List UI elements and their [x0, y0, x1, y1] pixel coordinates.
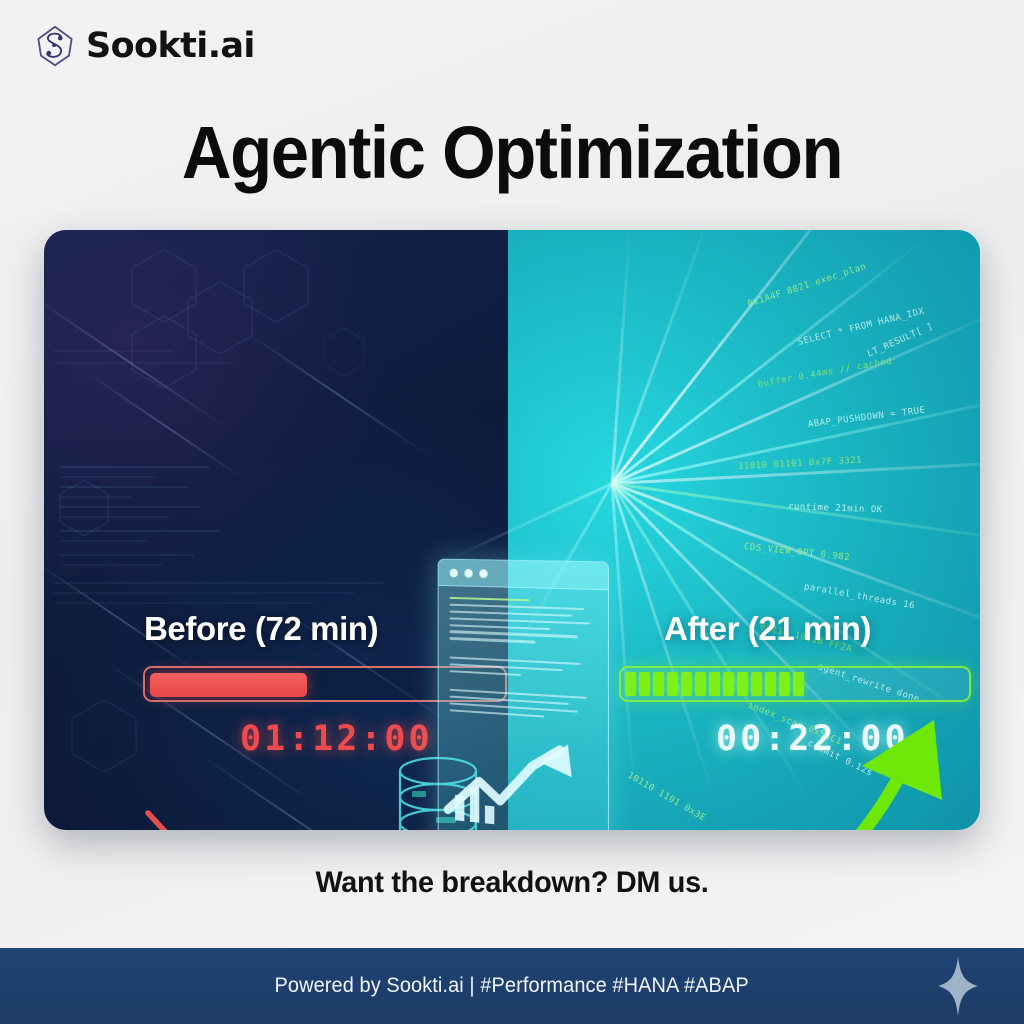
progress-segment: [667, 672, 678, 696]
progress-segment: [625, 672, 636, 696]
window-dot: [479, 569, 487, 578]
footer-text: Powered by Sookti.ai | #Performance #HAN…: [275, 974, 749, 998]
before-label: Before (72 min): [144, 610, 378, 648]
after-label: After (21 min): [664, 610, 871, 648]
page-title: Agentic Optimization: [36, 110, 988, 195]
brand-logo[interactable]: Sookti.ai: [34, 24, 255, 68]
code-window-icon: [438, 559, 609, 830]
rising-arrow-icon: [604, 710, 964, 830]
progress-segment: [681, 672, 692, 696]
footer-bar: Powered by Sookti.ai | #Performance #HAN…: [0, 948, 1024, 1024]
code-window-text: [450, 597, 596, 726]
progress-segment: [709, 672, 720, 696]
after-progress-segments: [625, 672, 804, 696]
window-dot: [464, 569, 472, 578]
sparkle-icon: [936, 956, 980, 1016]
progress-segment: [737, 672, 748, 696]
progress-segment: [695, 672, 706, 696]
progress-segment: [723, 672, 734, 696]
poster-canvas: Sookti.ai Agentic Optimization: [0, 0, 1024, 1024]
progress-segment: [765, 672, 776, 696]
growth-chart-icon: [442, 733, 609, 830]
cta-text[interactable]: Want the breakdown? DM us.: [20, 866, 1003, 900]
before-progress-fill: [150, 673, 307, 697]
sookti-s-diamond-icon: [34, 24, 76, 68]
progress-segment: [779, 672, 790, 696]
brand-name: Sookti.ai: [86, 29, 255, 64]
progress-segment: [793, 672, 804, 696]
progress-segment: [639, 672, 650, 696]
after-progress-bar: [619, 666, 971, 702]
before-timer: 01:12:00: [240, 719, 433, 759]
code-window-titlebar: [439, 560, 608, 591]
progress-segment: [653, 672, 664, 696]
code-window-body: [438, 559, 609, 830]
comparison-card: 0x1A4F 8821 exec_plan SELECT * FROM HANA…: [44, 230, 980, 830]
window-dot: [450, 569, 458, 578]
progress-segment: [751, 672, 762, 696]
